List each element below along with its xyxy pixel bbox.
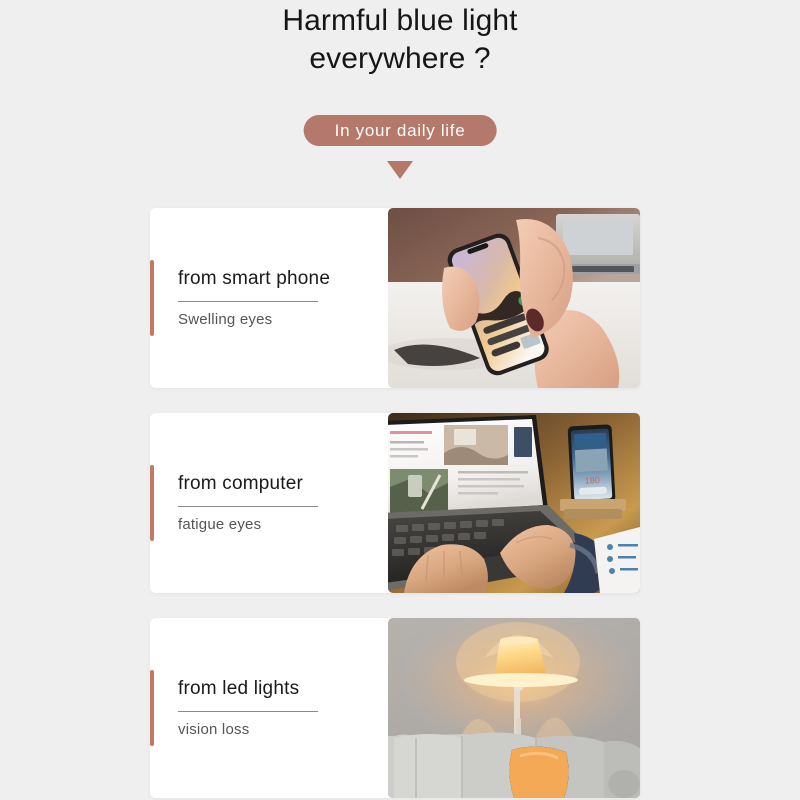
promo-page: Harmful blue light everywhere ? In your … bbox=[0, 0, 800, 800]
triangle-down-icon bbox=[387, 161, 413, 179]
photo-hand-holding-smartphone bbox=[388, 208, 640, 388]
daily-life-badge: In your daily life bbox=[304, 115, 497, 146]
card-text-panel: from led lights vision loss bbox=[150, 618, 390, 798]
card-subtitle: vision loss bbox=[178, 721, 249, 738]
card-text-panel: from computer fatigue eyes bbox=[150, 413, 390, 593]
photo-warm-led-floor-lamp bbox=[388, 618, 640, 798]
svg-text:180: 180 bbox=[585, 475, 601, 486]
card-divider bbox=[178, 506, 318, 507]
info-card: from computer fatigue eyes bbox=[150, 413, 640, 593]
info-card: from led lights vision loss bbox=[150, 618, 640, 798]
card-heading: from computer bbox=[178, 473, 303, 495]
accent-bar bbox=[150, 465, 154, 541]
page-title-line-2: everywhere ? bbox=[0, 40, 800, 78]
photo-hands-typing-on-laptop: 180 bbox=[388, 413, 640, 593]
card-divider bbox=[178, 301, 318, 302]
card-heading: from led lights bbox=[178, 678, 299, 700]
accent-bar bbox=[150, 670, 154, 746]
daily-life-badge-label: In your daily life bbox=[335, 121, 466, 141]
card-heading: from smart phone bbox=[178, 268, 330, 290]
page-title: Harmful blue light everywhere ? bbox=[0, 2, 800, 78]
card-text-panel: from smart phone Swelling eyes bbox=[150, 208, 390, 388]
card-subtitle: fatigue eyes bbox=[178, 516, 261, 533]
page-title-line-1: Harmful blue light bbox=[0, 2, 800, 40]
card-divider bbox=[178, 711, 318, 712]
card-subtitle: Swelling eyes bbox=[178, 311, 272, 328]
accent-bar bbox=[150, 260, 154, 336]
info-card: from smart phone Swelling eyes bbox=[150, 208, 640, 388]
